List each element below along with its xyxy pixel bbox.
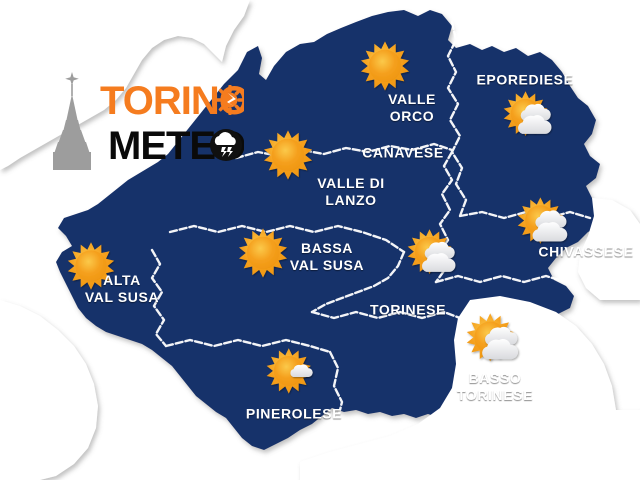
weather-icon-valle-orco[interactable] <box>357 38 413 94</box>
sun-icon <box>68 242 114 290</box>
sun-icon <box>215 85 244 115</box>
weather-icon-bassa-val-susa[interactable] <box>235 225 291 281</box>
weather-icon-chivassese[interactable] <box>516 195 574 253</box>
weather-map-page: TORINO <box>0 0 640 480</box>
weather-icon-basso-torinese[interactable] <box>465 311 525 371</box>
sun-icon <box>264 130 312 179</box>
sun-icon <box>361 41 409 90</box>
torino-meteo-logo[interactable]: TORINO <box>34 62 244 172</box>
thunderstorm-icon <box>210 129 242 161</box>
weather-icon-eporediese[interactable] <box>502 89 558 145</box>
weather-icon-pinerolese[interactable] <box>265 345 319 399</box>
mole-antonelliana-icon <box>53 72 91 170</box>
map-southwest-notch <box>0 300 98 480</box>
sun-icon <box>239 228 287 277</box>
weather-icon-torinese[interactable] <box>406 227 462 283</box>
weather-icon-valle-di-lanzo[interactable] <box>260 127 316 183</box>
weather-icon-alta-val-susa[interactable] <box>64 239 118 293</box>
